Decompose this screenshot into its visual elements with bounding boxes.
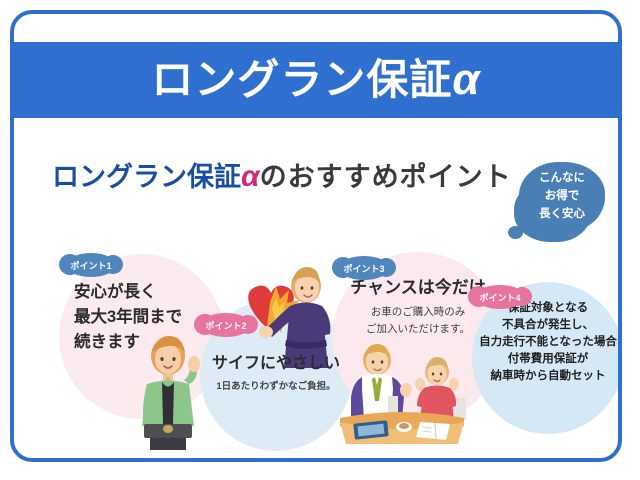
promo-card: ロングラン保証α ロングラン保証αのおすすめポイント こんなに お得で 長く安心 [10,10,622,462]
point-4-line-2: 不具合が発生し、 [472,317,622,334]
point-2-badge: ポイント2 [201,313,251,337]
subtitle-alpha: α [241,160,260,193]
point-4-line-4: 付帯費用保証が [472,351,622,368]
point-4-badge: ポイント4 [475,285,525,309]
bubble-line-1: こんなに [539,170,585,188]
subtitle-rest: のおすすめポイント [260,162,512,192]
page-title-alpha: α [452,55,480,104]
bubble-line-3: 長く安心 [539,206,585,224]
subtitle: ロングラン保証αのおすすめポイント [52,162,512,192]
point-4-text: 保証対象となる 不具合が発生し、 自力走行不能となった場合 付帯費用保証が 納車… [472,300,622,385]
point-4-line-3: 自力走行不能となった場合 [472,334,622,351]
page-title: ロングラン保証α [151,58,480,102]
point-1-line-1: 安心が長く [74,280,224,305]
point-4-line-5: 納車時から自動セット [472,368,622,385]
point-1-badge: ポイント1 [66,253,116,277]
bubble-line-2: お得で [545,188,580,206]
subtitle-brand: ロングラン保証 [52,162,241,192]
subtitle-row: ロングラン保証αのおすすめポイント [42,154,598,214]
thought-bubble-dot [508,226,523,239]
point-2-heading: サイフにやさしい [200,354,352,373]
page-title-text: ロングラン保証 [151,56,452,103]
point-3-illustration [332,344,472,448]
point-2-text: サイフにやさしい 1日あたりわずかなご負担。 [200,354,352,392]
thought-bubble: こんなに お得で 長く安心 [519,162,605,232]
header-band: ロングラン保証α [14,42,618,118]
point-2-subtext: 1日あたりわずかなご負担。 [200,378,352,392]
point-3-badge: ポイント3 [339,256,389,280]
